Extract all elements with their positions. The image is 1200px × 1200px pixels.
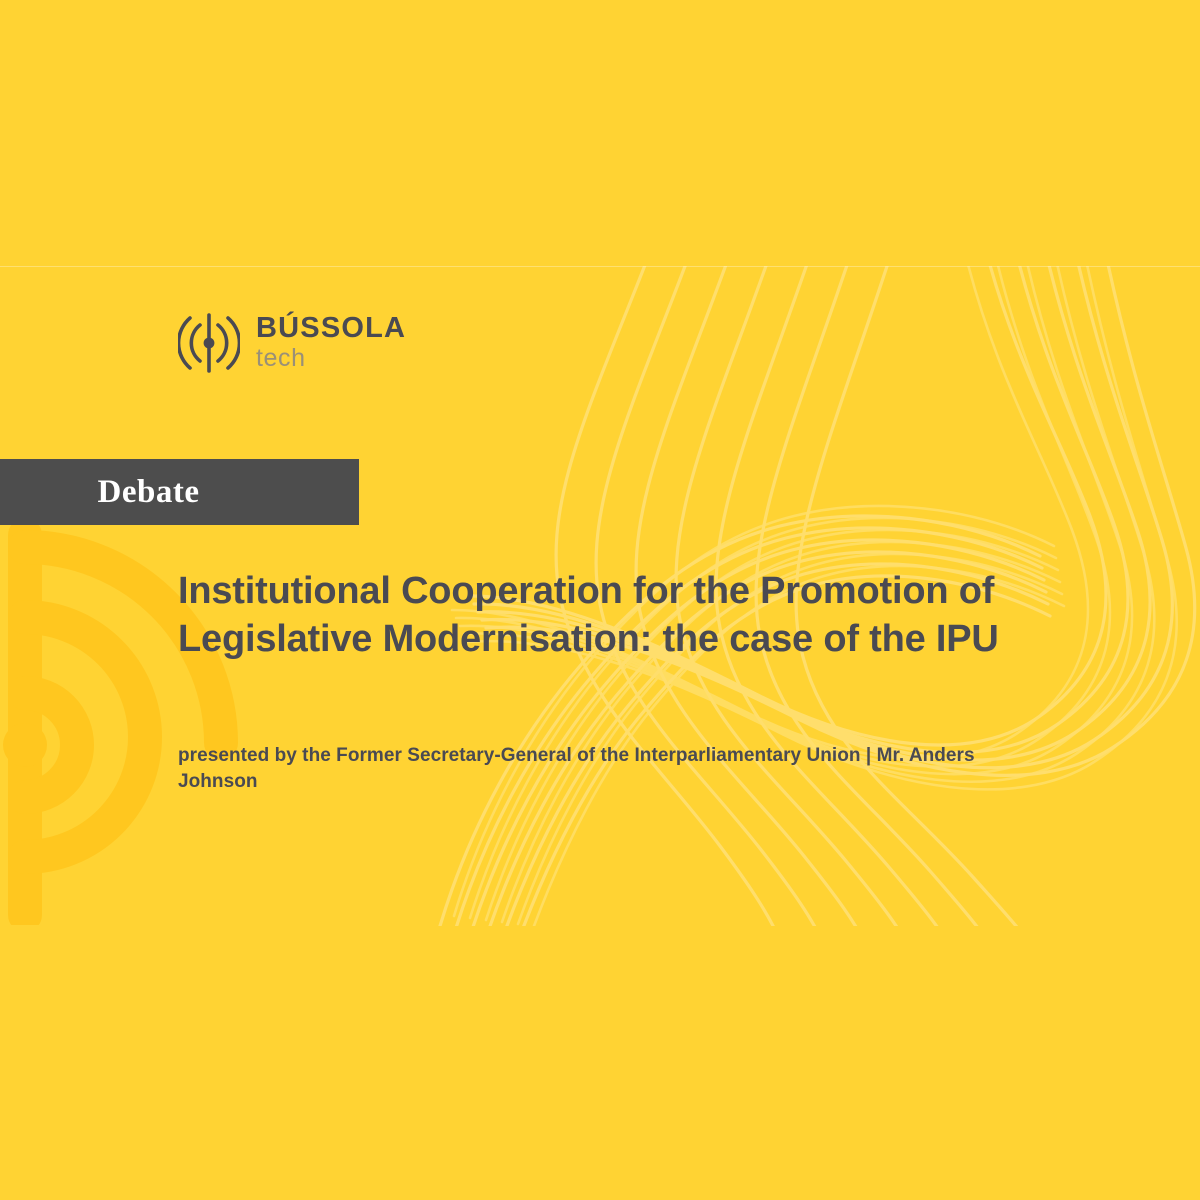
presenter-byline: presented by the Former Secretary-Genera… [178,743,1028,795]
brand-name: BÚSSOLA [256,313,406,343]
brand-logo-lockup: BÚSSOLA tech [178,312,406,374]
signal-compass-icon [178,312,240,374]
presentation-slide: BÚSSOLA tech Debate Institutional Cooper… [0,0,1200,1200]
brand-wordmark: BÚSSOLA tech [256,313,406,373]
category-badge: Debate [0,459,359,525]
page-title: Institutional Cooperation for the Promot… [178,568,1018,664]
category-badge-label: Debate [98,474,262,511]
section-divider [0,266,1200,267]
brand-subname: tech [256,345,406,373]
